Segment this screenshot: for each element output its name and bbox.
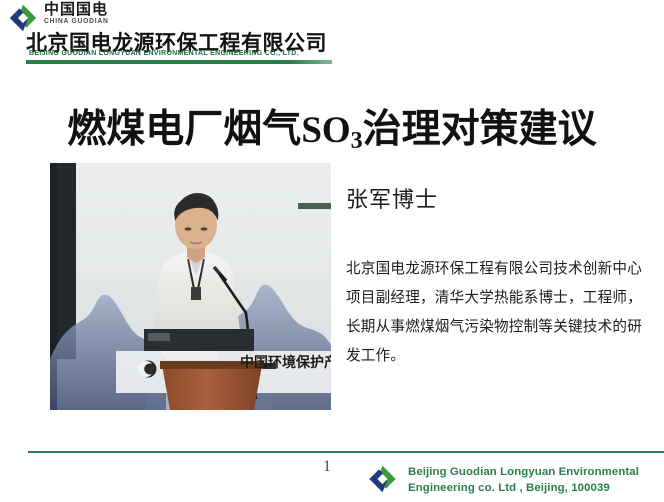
- title-formula: SO3: [301, 110, 362, 151]
- formula-subscript: 3: [351, 128, 363, 154]
- footer-company-name: Beijing Guodian Longyuan Environmental E…: [408, 464, 639, 496]
- speaker-bio: 北京国电龙源环保工程有限公司技术创新中心项目副经理，清华大学热能系博士，工程师，…: [346, 255, 642, 371]
- guodian-pinwheel-logo-icon: [366, 464, 399, 494]
- svg-text:中国环境保护产业协会: 中国环境保护产业协会: [240, 354, 331, 370]
- title-part-1: 燃煤电厂烟气: [67, 108, 301, 151]
- footer-divider: [28, 451, 664, 453]
- title-part-2: 治理对策建议: [363, 108, 597, 151]
- slide-title: 燃煤电厂烟气SO3治理对策建议: [0, 106, 664, 159]
- formula-main: SO: [301, 110, 350, 151]
- footer-company-line-1: Beijing Guodian Longyuan Environmental: [408, 464, 639, 480]
- page-number: 1: [323, 458, 331, 476]
- header-divider: [26, 60, 332, 64]
- speaker-name: 张军博士: [346, 182, 438, 214]
- footer-company-line-2: Engineering co. Ltd , Beijing, 100039: [408, 480, 639, 496]
- brand-name-cn: 中国国电: [44, 2, 108, 18]
- speaker-at-podium-photo: 中国环境保护产业协会: [50, 163, 331, 410]
- company-name-en: BEIJING GUODIAN LONGYUAN ENVIRONMENTAL E…: [29, 50, 299, 57]
- brand-name-en: CHINA GUODIAN: [44, 18, 109, 25]
- slide-header: 中国国电 CHINA GUODIAN 北京国电龙源环保工程有限公司 BEIJIN…: [0, 0, 664, 66]
